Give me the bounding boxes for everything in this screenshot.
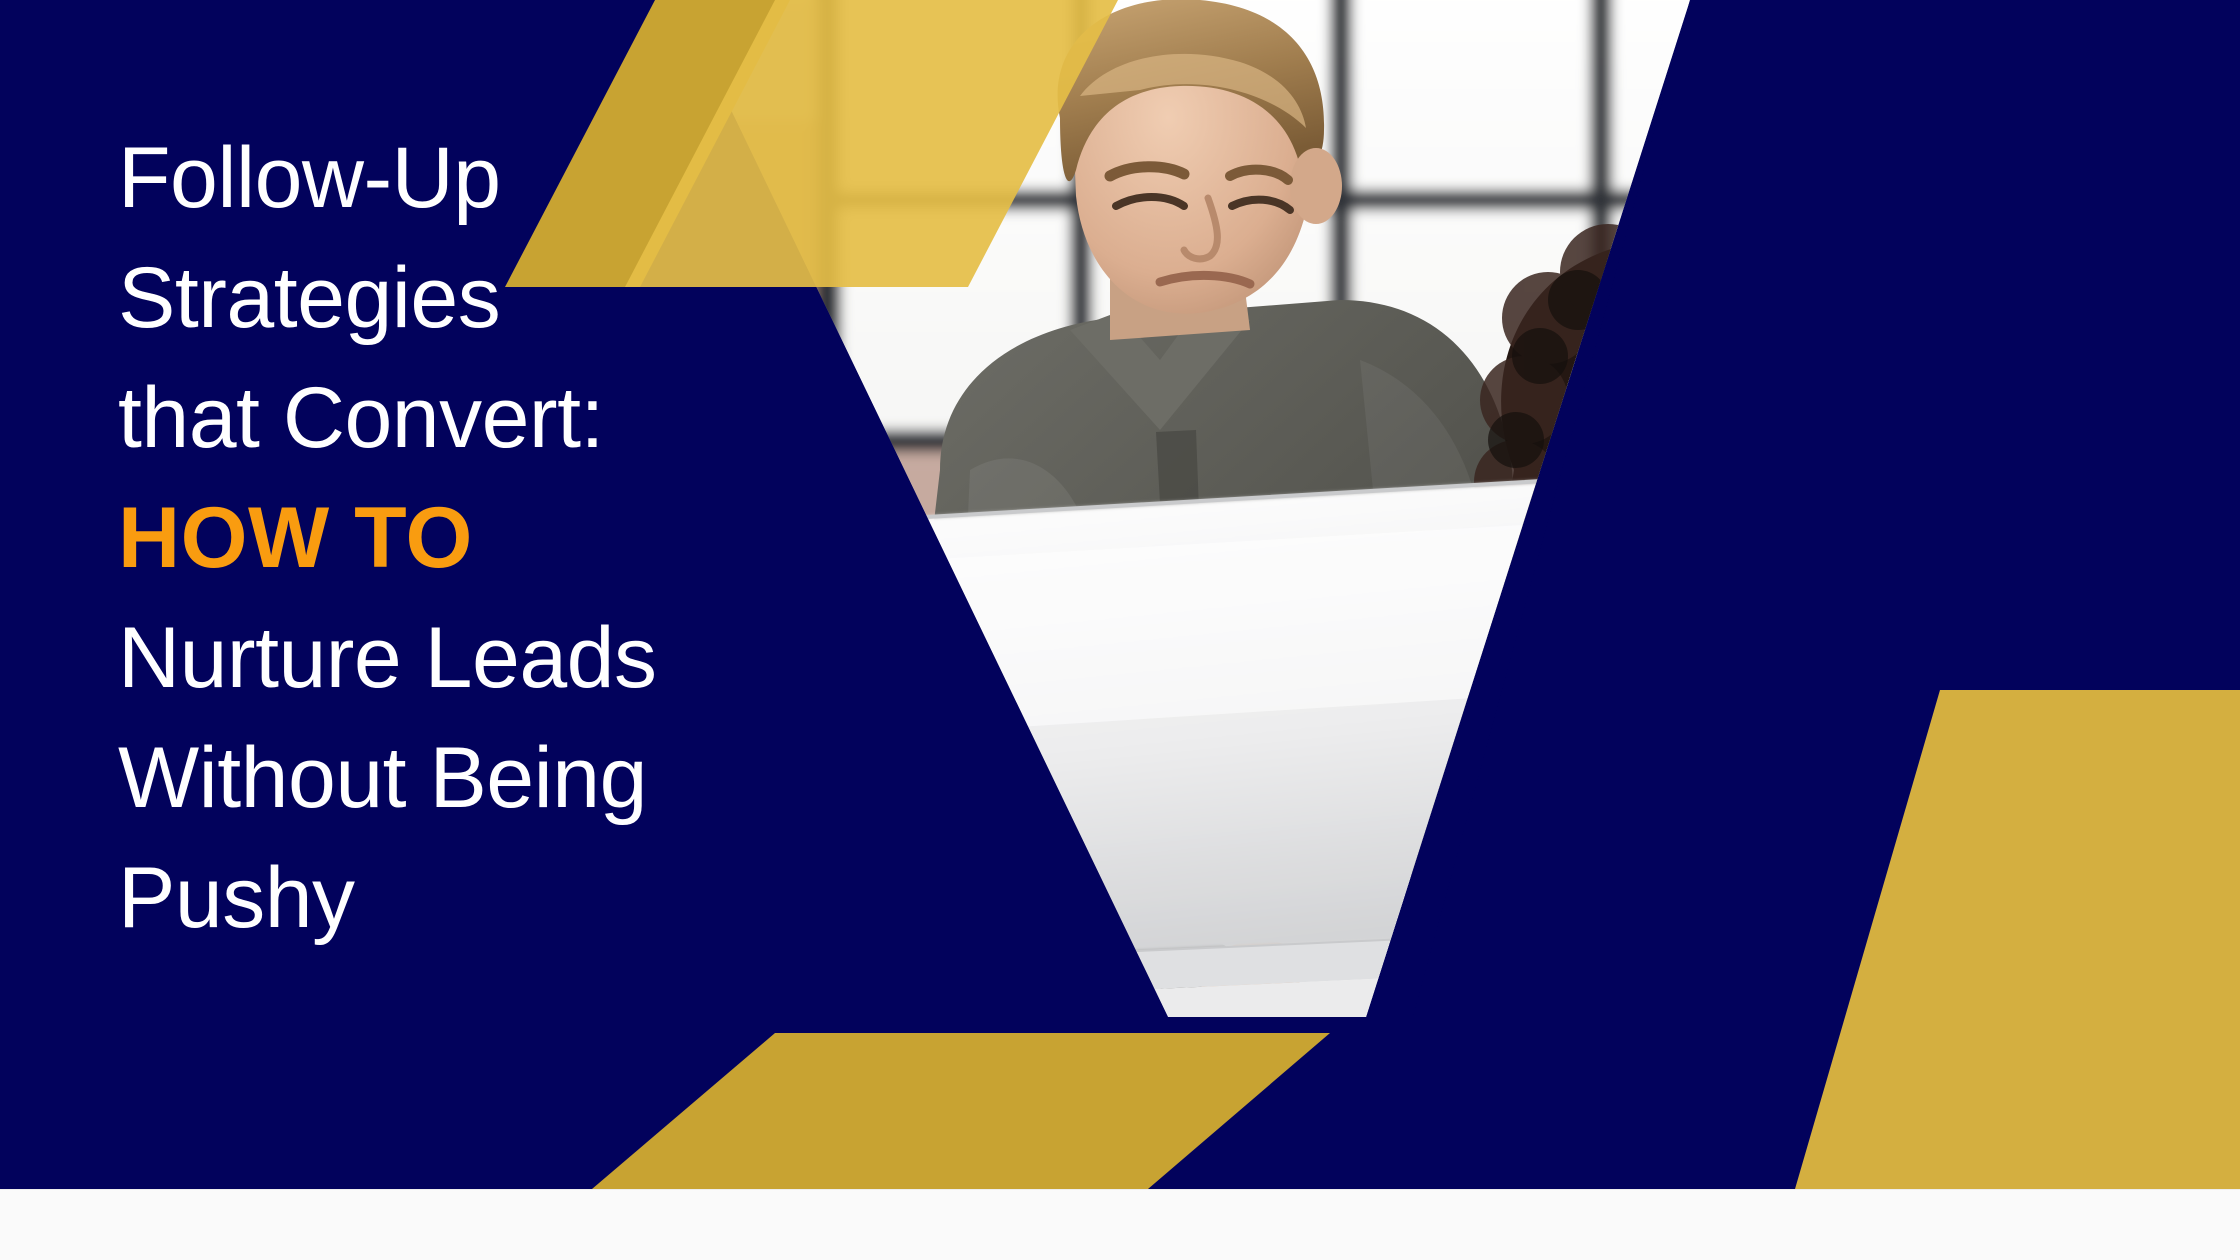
bottom-strip <box>0 1189 2240 1260</box>
slide-canvas: Follow-Up Strategies that Convert: HOW T… <box>0 0 2240 1260</box>
headline-line-5: Nurture Leads <box>118 598 858 718</box>
headline-line-7: Pushy <box>118 838 858 958</box>
headline-line-1: Follow-Up <box>118 118 858 238</box>
headline-line-6: Without Being <box>118 718 858 838</box>
headline-line-3: that Convert: <box>118 358 858 478</box>
headline-line-4-accent: HOW TO <box>118 478 858 598</box>
headline-block: Follow-Up Strategies that Convert: HOW T… <box>118 118 858 958</box>
headline-line-2: Strategies <box>118 238 858 358</box>
